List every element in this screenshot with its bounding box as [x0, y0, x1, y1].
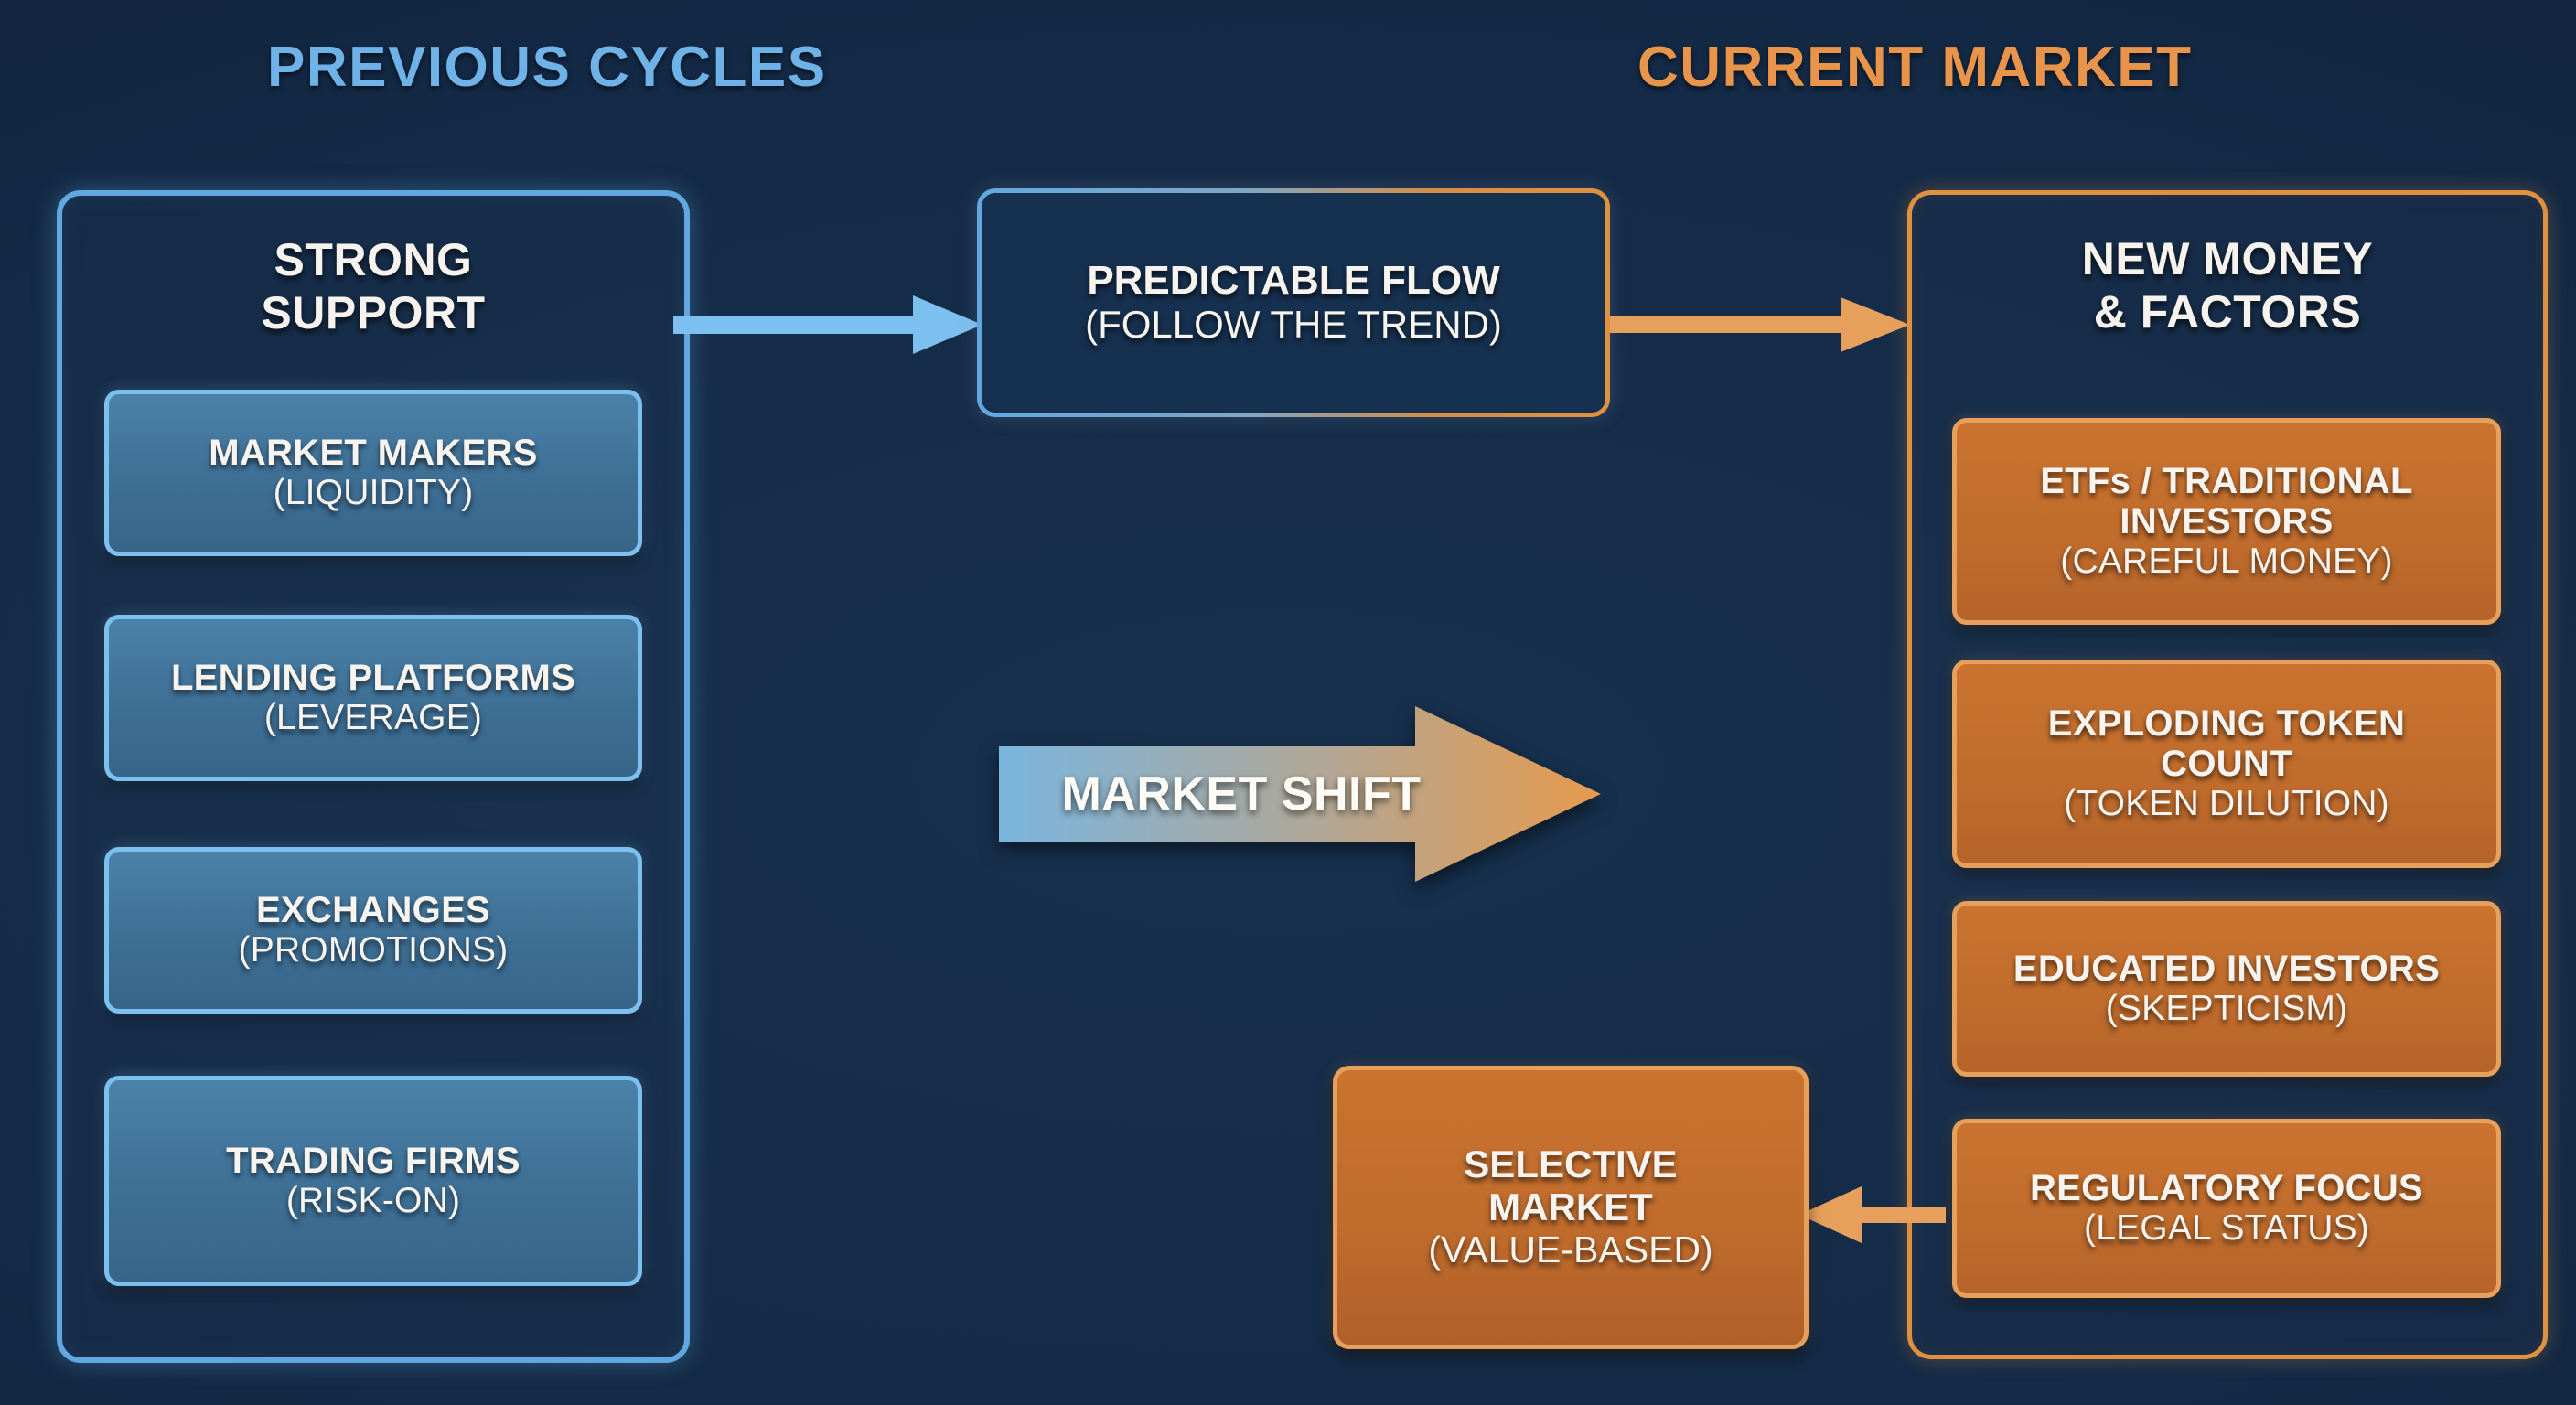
- card-etfs-traditional-investors[interactable]: ETFs / TRADITIONAL INVESTORS (CAREFUL MO…: [1952, 418, 2501, 625]
- card-exchanges-subtitle: (PROMOTIONS): [239, 930, 509, 971]
- card-token-count-title-line1: EXPLODING TOKEN: [2048, 703, 2405, 744]
- connector-right-to-outcome-arrow: [1799, 1174, 1946, 1256]
- card-lending-platforms-title: LENDING PLATFORMS: [171, 658, 575, 698]
- new-money-heading-line1: NEW MONEY: [1912, 233, 2543, 286]
- card-etfs-title-line2: INVESTORS: [2120, 501, 2333, 542]
- current-market-panel: NEW MONEY & FACTORS ETFs / TRADITIONAL I…: [1907, 190, 2548, 1359]
- card-trading-firms[interactable]: TRADING FIRMS (RISK-ON): [104, 1076, 642, 1286]
- selective-market-subtitle: (VALUE-BASED): [1428, 1228, 1712, 1271]
- card-market-makers-title: MARKET MAKERS: [209, 433, 537, 473]
- strong-support-heading-line2: SUPPORT: [62, 287, 684, 340]
- card-trading-firms-subtitle: (RISK-ON): [286, 1181, 460, 1221]
- diagram-canvas: PREVIOUS CYCLES CURRENT MARKET STRONG SU…: [0, 0, 2576, 1405]
- previous-cycles-panel: STRONG SUPPORT MARKET MAKERS (LIQUIDITY)…: [57, 190, 690, 1363]
- predictable-flow-title: PREDICTABLE FLOW: [1087, 258, 1499, 303]
- card-educated-investors-title: EDUCATED INVESTORS: [2013, 949, 2440, 989]
- strong-support-heading: STRONG SUPPORT: [62, 234, 684, 339]
- card-educated-investors[interactable]: EDUCATED INVESTORS (SKEPTICISM): [1952, 901, 2501, 1077]
- card-etfs-title-line1: ETFs / TRADITIONAL: [2040, 461, 2413, 501]
- card-market-makers[interactable]: MARKET MAKERS (LIQUIDITY): [104, 390, 642, 556]
- card-exchanges-title: EXCHANGES: [256, 890, 490, 930]
- new-money-heading-line2: & FACTORS: [1912, 286, 2543, 339]
- connector-left-to-flow-arrow: [673, 279, 984, 370]
- selective-market-title-line1: SELECTIVE: [1464, 1142, 1677, 1185]
- predictable-flow-box[interactable]: PREDICTABLE FLOW (FOLLOW THE TREND): [977, 188, 1610, 417]
- card-lending-platforms-subtitle: (LEVERAGE): [264, 698, 482, 738]
- card-token-count-subtitle: (TOKEN DILUTION): [2064, 784, 2389, 824]
- new-money-heading: NEW MONEY & FACTORS: [1912, 233, 2543, 338]
- card-exploding-token-count[interactable]: EXPLODING TOKEN COUNT (TOKEN DILUTION): [1952, 660, 2501, 868]
- card-educated-investors-subtitle: (SKEPTICISM): [2106, 989, 2348, 1029]
- selective-market-box[interactable]: SELECTIVE MARKET (VALUE-BASED): [1333, 1066, 1809, 1349]
- card-etfs-subtitle: (CAREFUL MONEY): [2060, 542, 2392, 582]
- connector-flow-to-right-arrow: [1610, 279, 1912, 370]
- previous-cycles-title: PREVIOUS CYCLES: [267, 35, 827, 100]
- card-regulatory-focus[interactable]: REGULATORY FOCUS (LEGAL STATUS): [1952, 1119, 2501, 1298]
- card-lending-platforms[interactable]: LENDING PLATFORMS (LEVERAGE): [104, 615, 642, 781]
- market-shift-label: MARKET SHIFT: [999, 702, 1484, 885]
- card-regulatory-focus-title: REGULATORY FOCUS: [2030, 1168, 2423, 1208]
- market-shift-arrow: MARKET SHIFT: [999, 702, 1601, 885]
- current-market-title: CURRENT MARKET: [1637, 35, 2193, 100]
- card-trading-firms-title: TRADING FIRMS: [226, 1141, 521, 1181]
- card-exchanges[interactable]: EXCHANGES (PROMOTIONS): [104, 847, 642, 1014]
- predictable-flow-subtitle: (FOLLOW THE TREND): [1085, 303, 1502, 347]
- card-regulatory-focus-subtitle: (LEGAL STATUS): [2084, 1208, 2369, 1249]
- strong-support-heading-line1: STRONG: [62, 234, 684, 287]
- card-market-makers-subtitle: (LIQUIDITY): [274, 473, 474, 513]
- card-token-count-title-line2: COUNT: [2161, 744, 2292, 784]
- selective-market-title-line2: MARKET: [1488, 1185, 1653, 1228]
